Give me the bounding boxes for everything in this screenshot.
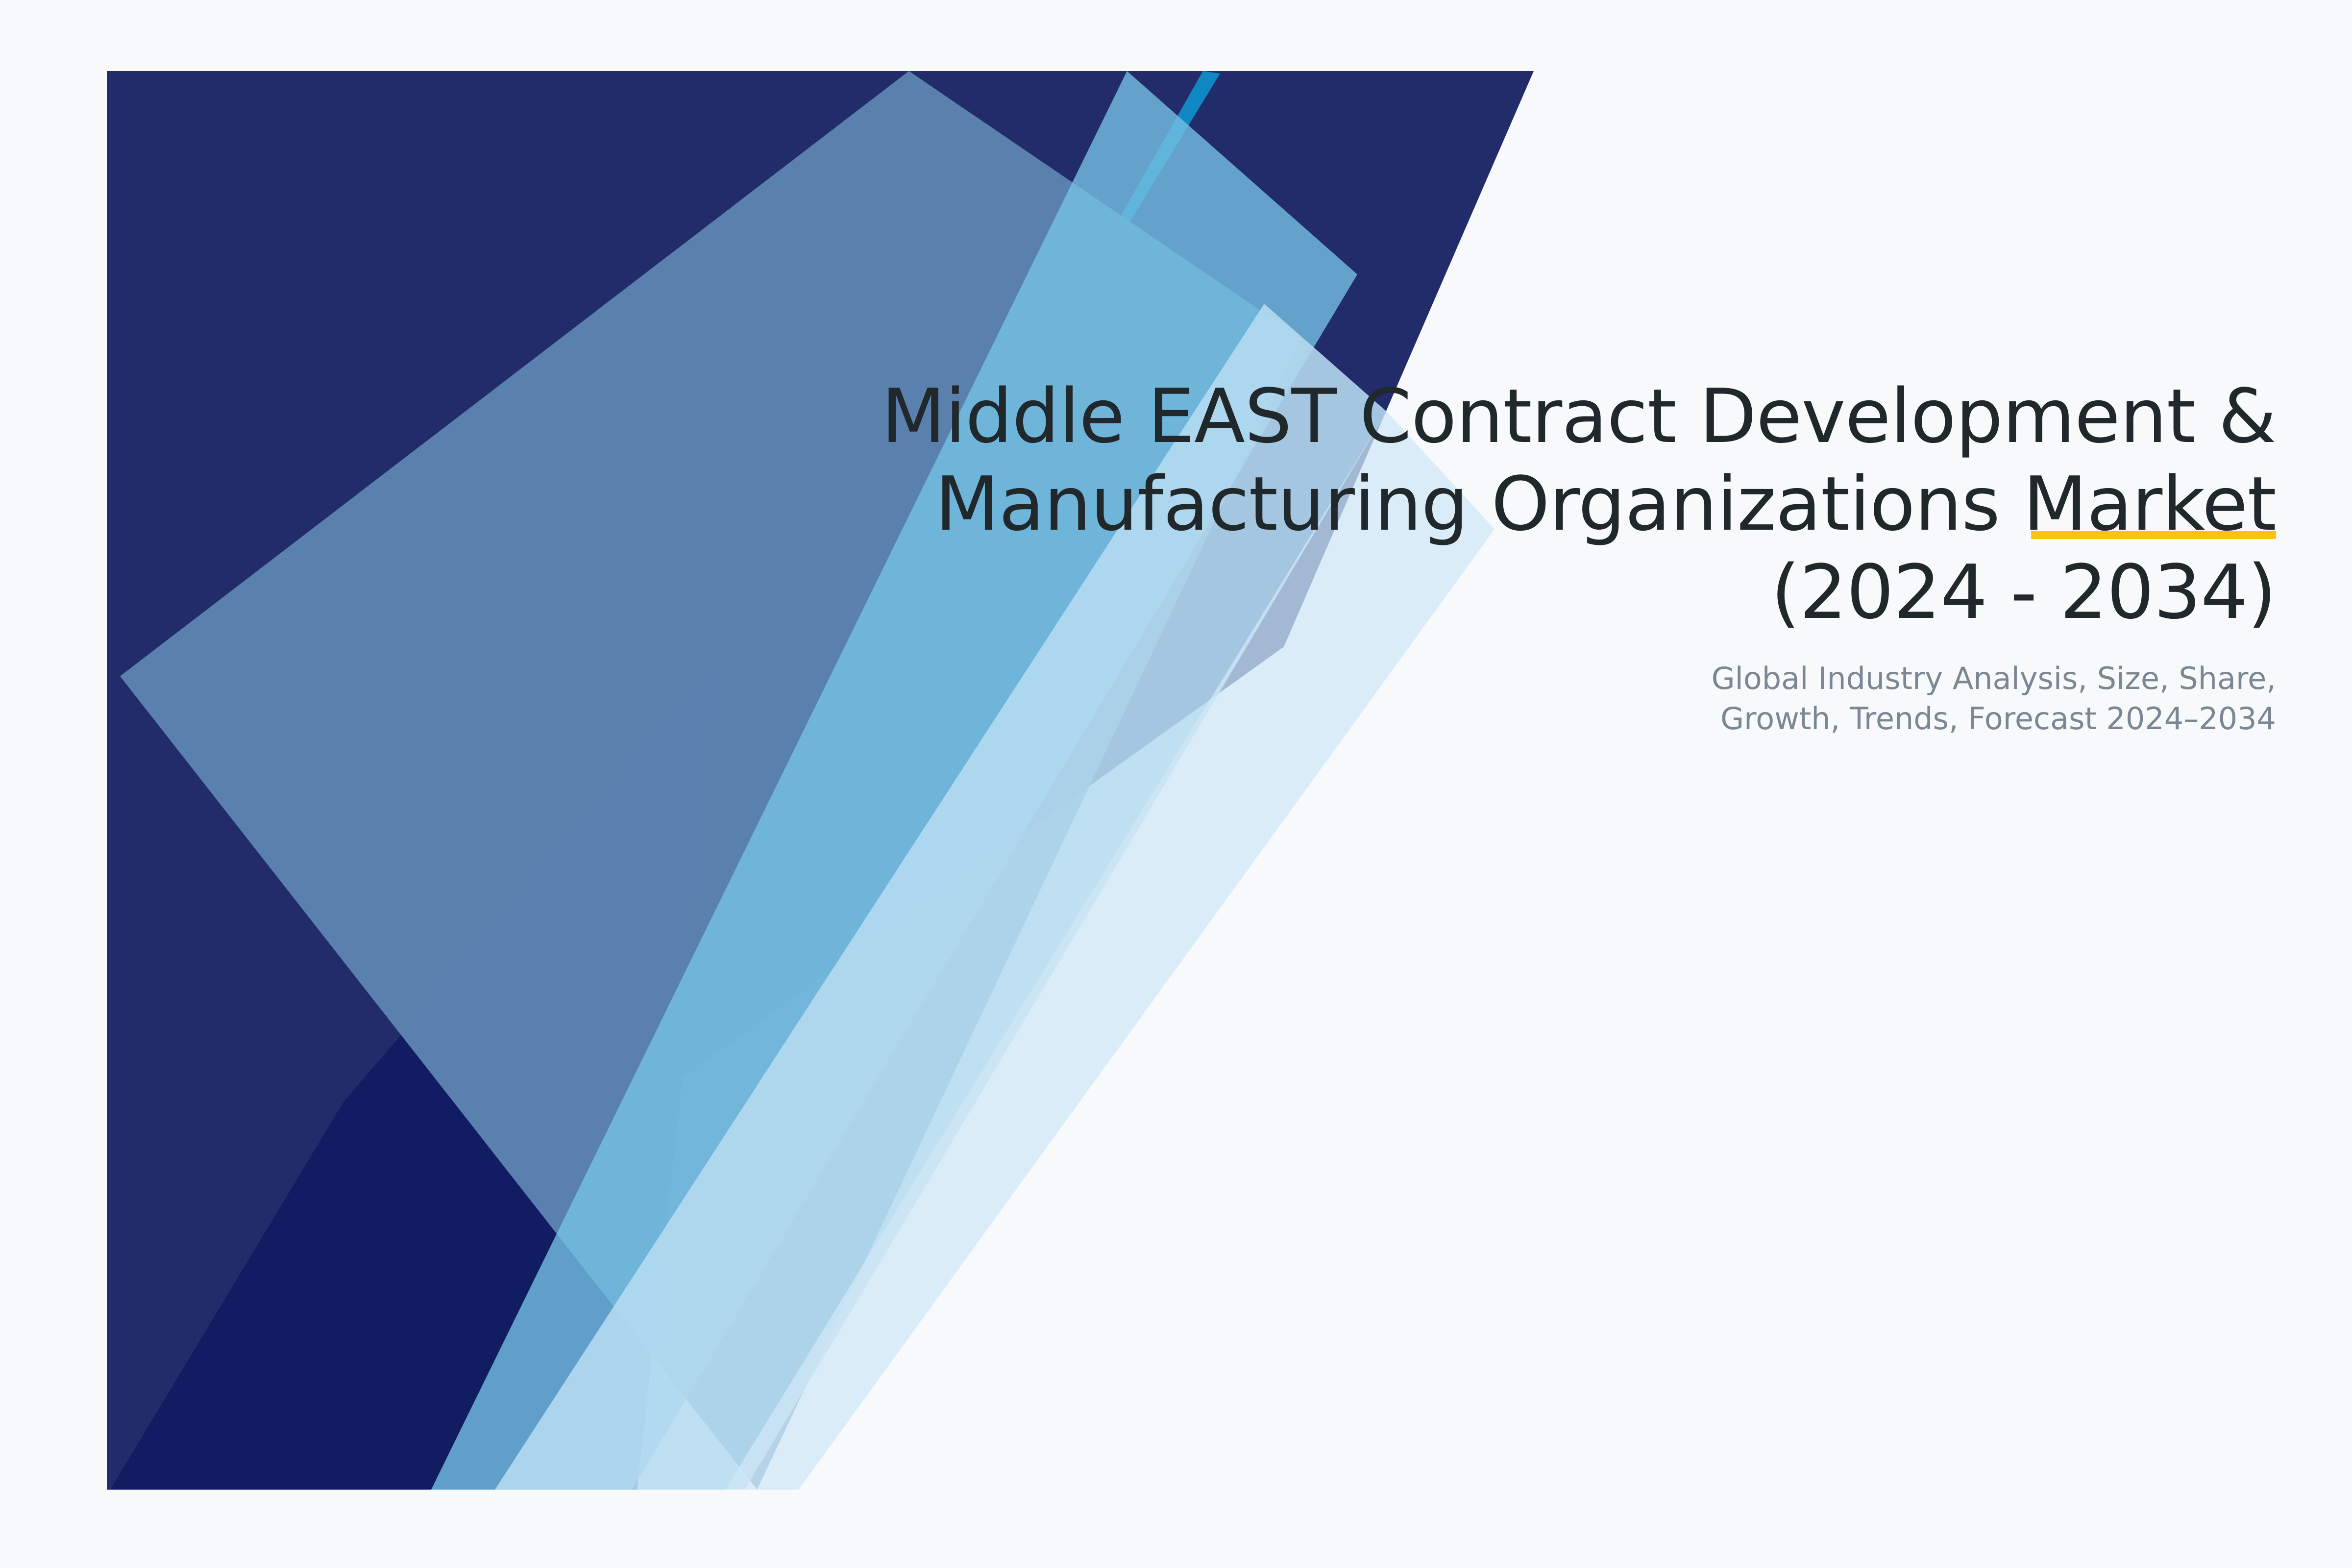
report-cover: Middle EAST Contract Development & Manuf… (0, 0, 2352, 1568)
page-subtitle: Global Industry Analysis, Size, Share, G… (806, 659, 2276, 739)
page-title: Middle EAST Contract Development & Manuf… (806, 372, 2276, 636)
title-group: Middle EAST Contract Development & Manuf… (806, 372, 2276, 739)
title-highlight-underline (2031, 531, 2276, 539)
abstract-polygon-artwork (0, 0, 2352, 1568)
